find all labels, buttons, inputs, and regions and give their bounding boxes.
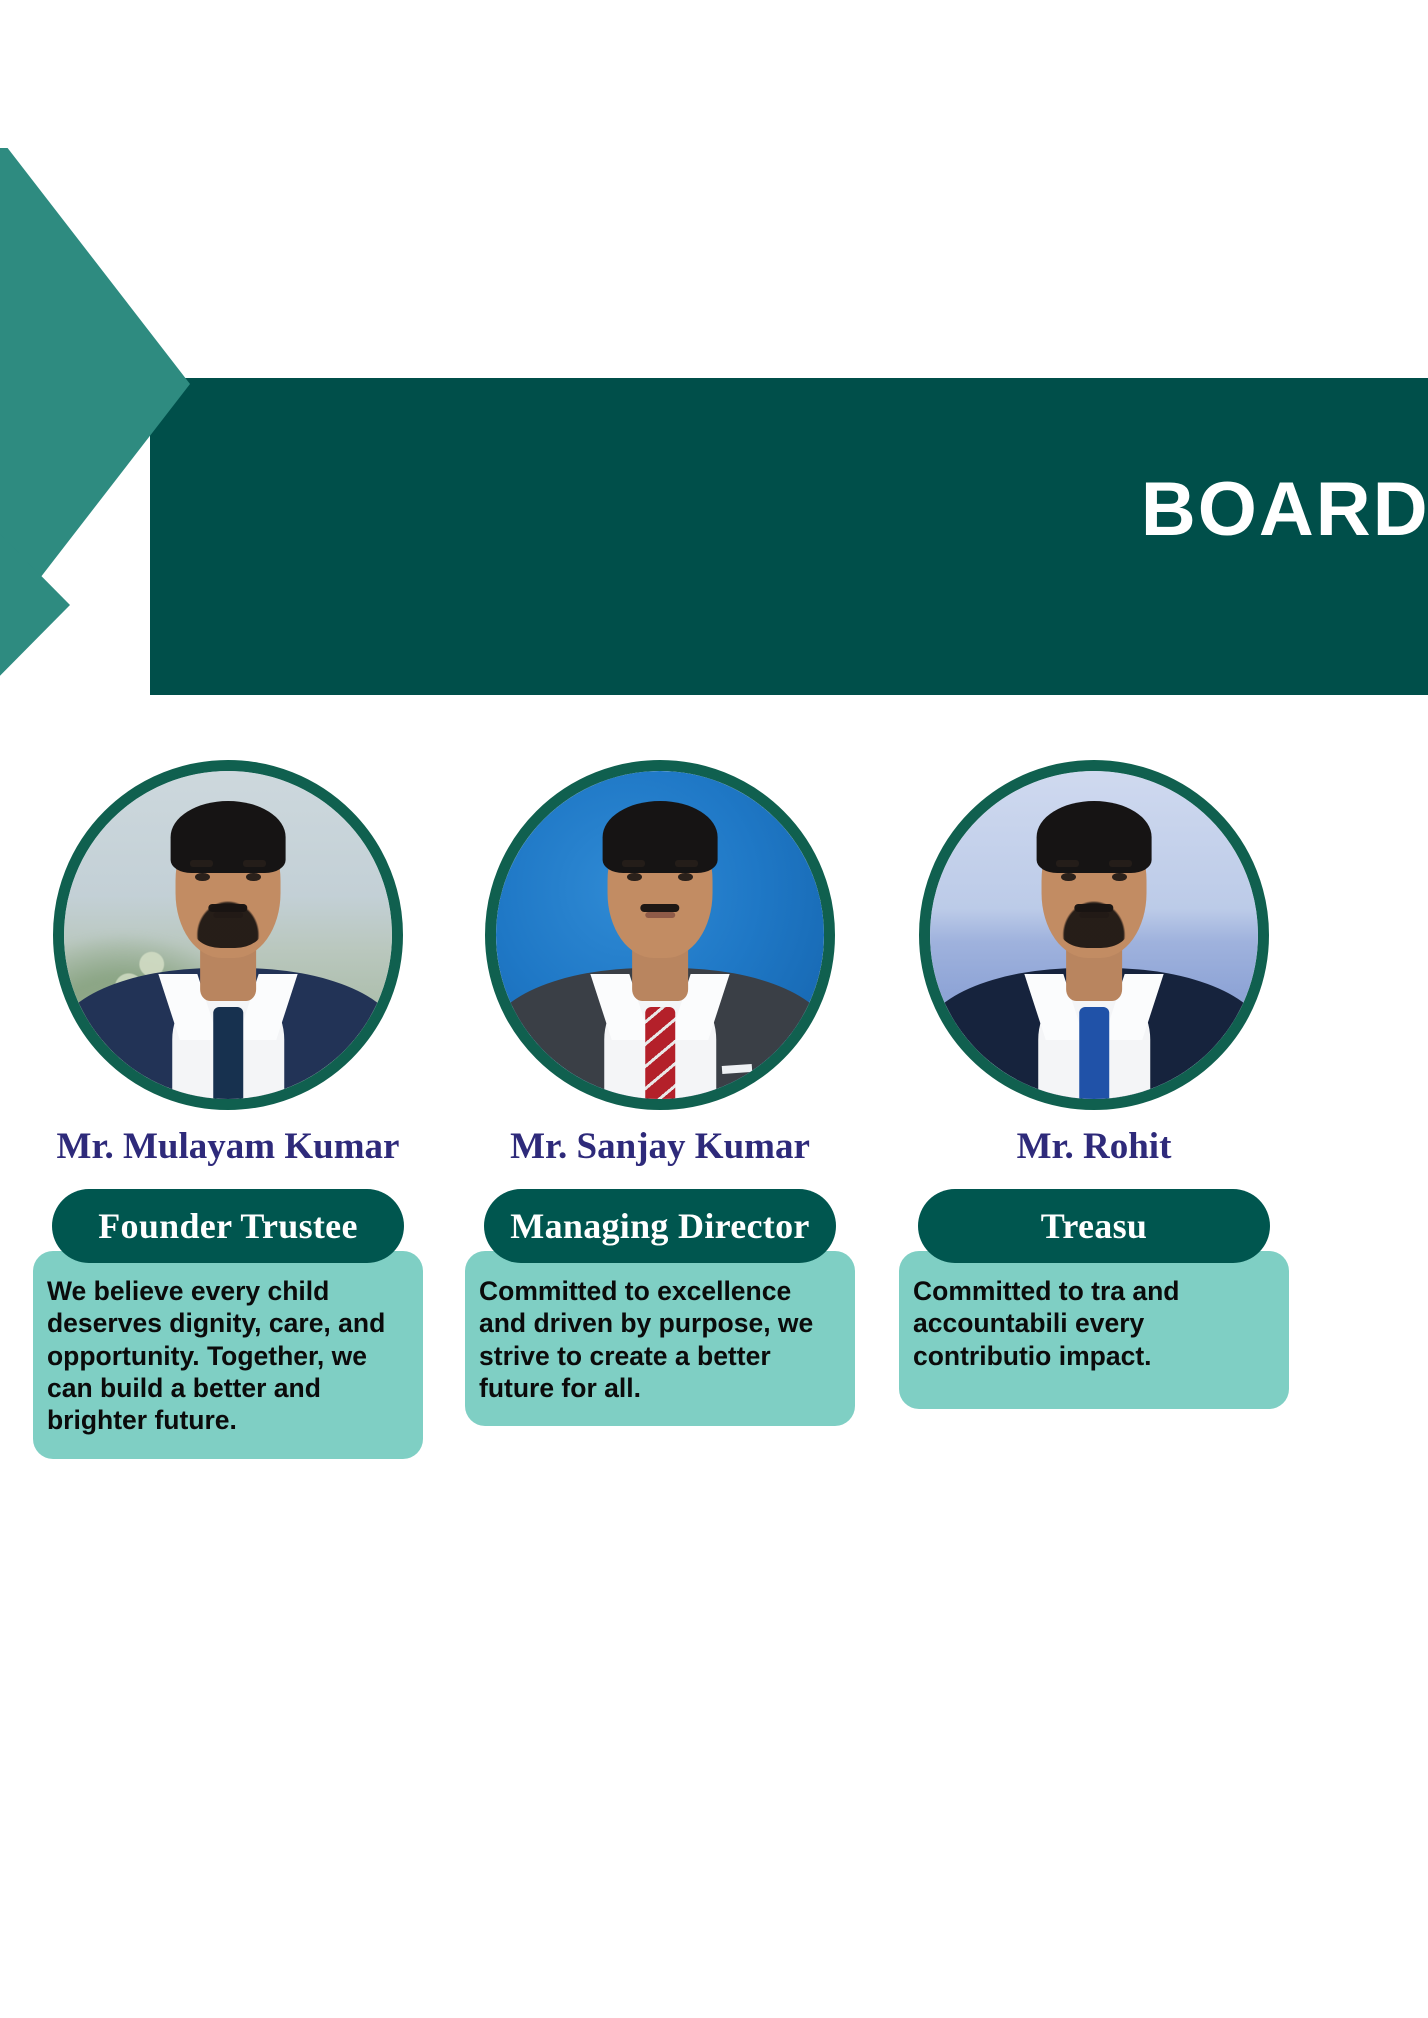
role-badge: Founder Trustee — [52, 1189, 404, 1263]
member-card[interactable]: Mr. Mulayam Kumar Founder Trustee We bel… — [30, 760, 426, 1459]
member-quote: We believe every child deserves dignity,… — [47, 1275, 409, 1437]
member-quote-box: We believe every child deserves dignity,… — [33, 1251, 423, 1459]
role-badge-label: Managing Director — [510, 1205, 809, 1247]
member-name: Mr. Mulayam Kumar — [30, 1128, 426, 1165]
member-quote: Committed to tra and accountabili every … — [913, 1275, 1275, 1372]
role-badge-label: Founder Trustee — [98, 1205, 358, 1247]
avatar — [485, 760, 835, 1110]
member-card[interactable]: Mr. Rohit Treasu Committed to tra and ac… — [896, 760, 1292, 1409]
member-card[interactable]: Mr. Sanjay Kumar Managing Director Commi… — [462, 760, 858, 1426]
board-members-row: Mr. Mulayam Kumar Founder Trustee We bel… — [0, 760, 1428, 1320]
role-badge: Managing Director — [484, 1189, 836, 1263]
member-quote-box: Committed to tra and accountabili every … — [899, 1251, 1289, 1409]
member-quote-box: Committed to excellence and driven by pu… — [465, 1251, 855, 1426]
page-title: BOARD M — [1141, 472, 1428, 548]
member-name: Mr. Rohit — [896, 1128, 1292, 1165]
member-name: Mr. Sanjay Kumar — [462, 1128, 858, 1165]
avatar — [919, 760, 1269, 1110]
role-badge-label: Treasu — [1041, 1205, 1147, 1247]
chevron-arrow-secondary — [0, 455, 70, 755]
chevron-arrow-secondary-shape — [0, 455, 70, 755]
member-quote: Committed to excellence and driven by pu… — [479, 1275, 841, 1404]
poster-canvas: BOARD M — [0, 0, 1428, 2018]
avatar — [53, 760, 403, 1110]
role-badge: Treasu — [918, 1189, 1270, 1263]
